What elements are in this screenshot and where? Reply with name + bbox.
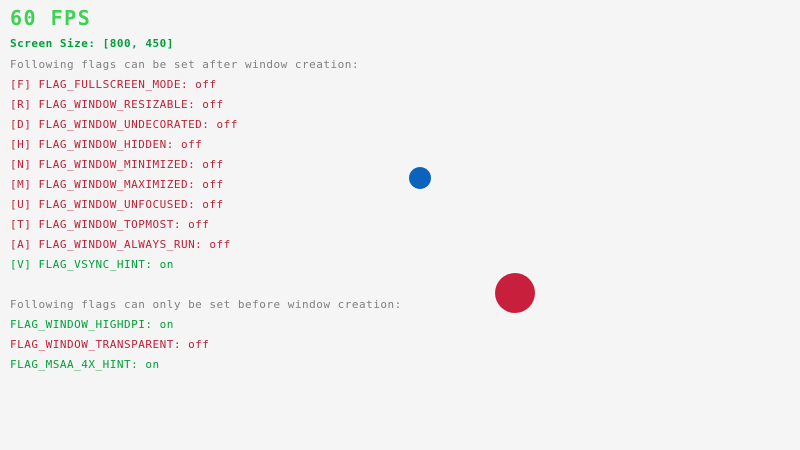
section-header-after-creation: Following flags can be set after window … xyxy=(10,59,359,70)
flag-row-flag-window-highdpi[interactable]: FLAG_WINDOW_HIGHDPI: on xyxy=(10,319,209,339)
flag-row-flag-window-always-run[interactable]: [A] FLAG_WINDOW_ALWAYS_RUN: off xyxy=(10,239,238,259)
flag-row-flag-vsync-hint[interactable]: [V] FLAG_VSYNC_HINT: on xyxy=(10,259,238,279)
red-ball-shape xyxy=(495,273,535,313)
flag-row-flag-window-transparent[interactable]: FLAG_WINDOW_TRANSPARENT: off xyxy=(10,339,209,359)
flag-list-before-creation: FLAG_WINDOW_HIGHDPI: onFLAG_WINDOW_TRANS… xyxy=(10,319,209,379)
raylib-window[interactable]: 60 FPS Screen Size: [800, 450] Following… xyxy=(0,0,800,450)
flag-row-flag-window-maximized[interactable]: [M] FLAG_WINDOW_MAXIMIZED: off xyxy=(10,179,238,199)
flag-row-flag-window-undecorated[interactable]: [D] FLAG_WINDOW_UNDECORATED: off xyxy=(10,119,238,139)
flag-row-flag-window-unfocused[interactable]: [U] FLAG_WINDOW_UNFOCUSED: off xyxy=(10,199,238,219)
flag-row-flag-window-hidden[interactable]: [H] FLAG_WINDOW_HIDDEN: off xyxy=(10,139,238,159)
section-header-before-creation: Following flags can only be set before w… xyxy=(10,299,402,310)
flag-row-flag-window-resizable[interactable]: [R] FLAG_WINDOW_RESIZABLE: off xyxy=(10,99,238,119)
fps-counter: 60 FPS xyxy=(10,8,91,28)
flag-row-flag-fullscreen-mode[interactable]: [F] FLAG_FULLSCREEN_MODE: off xyxy=(10,79,238,99)
flag-list-after-creation: [F] FLAG_FULLSCREEN_MODE: off[R] FLAG_WI… xyxy=(10,79,238,279)
flag-row-flag-window-minimized[interactable]: [N] FLAG_WINDOW_MINIMIZED: off xyxy=(10,159,238,179)
flag-row-flag-window-topmost[interactable]: [T] FLAG_WINDOW_TOPMOST: off xyxy=(10,219,238,239)
screen-size-label: Screen Size: [800, 450] xyxy=(10,38,174,49)
flag-row-flag-msaa-4x-hint[interactable]: FLAG_MSAA_4X_HINT: on xyxy=(10,359,209,379)
blue-ball-shape xyxy=(409,167,431,189)
